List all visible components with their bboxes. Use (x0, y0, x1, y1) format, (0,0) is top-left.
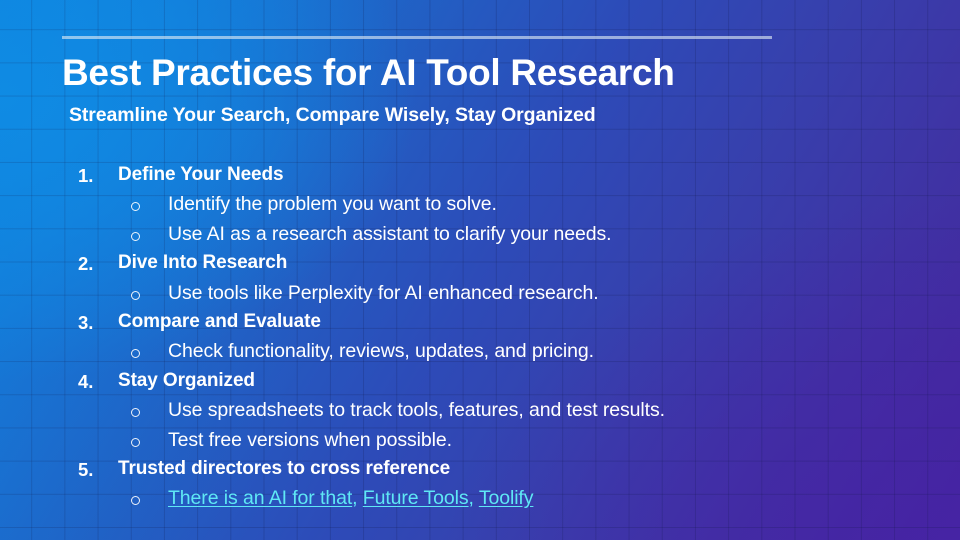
outline-subitem: Use AI as a research assistant to clarif… (0, 223, 960, 252)
link-separator: , (469, 487, 479, 509)
outline-subitem-label: Test free versions when possible. (168, 429, 452, 452)
slide-content: Best Practices for AI Tool Research Stre… (0, 0, 960, 540)
circle-bullet-icon (131, 291, 140, 300)
outline-item: 1. Define Your Needs (0, 164, 960, 193)
outline-subitem-label: Use spreadsheets to track tools, feature… (168, 399, 665, 422)
list-marker-number: 5. (78, 459, 112, 481)
outline-subitem: Use spreadsheets to track tools, feature… (0, 399, 960, 428)
circle-bullet-icon (131, 349, 140, 358)
directory-links-group: There is an AI for that, Future Tools, T… (168, 487, 533, 510)
link-toolify[interactable]: Toolify (479, 487, 534, 509)
list-marker-number: 1. (78, 165, 112, 187)
outline-item-label: Dive Into Research (118, 252, 287, 274)
outline-subitem: Identify the problem you want to solve. (0, 193, 960, 222)
outline-subitem-label: Identify the problem you want to solve. (168, 193, 497, 216)
outline-subitem-label: Check functionality, reviews, updates, a… (168, 340, 594, 363)
slide-canvas: Best Practices for AI Tool Research Stre… (0, 0, 960, 540)
circle-bullet-icon (131, 202, 140, 211)
outline-item-label: Stay Organized (118, 370, 255, 392)
link-there-is-an-ai-for-that[interactable]: There is an AI for that (168, 487, 352, 509)
outline-item-label: Trusted directores to cross reference (118, 458, 450, 480)
outline-subitem: Test free versions when possible. (0, 429, 960, 458)
outline-item: 4. Stay Organized (0, 370, 960, 399)
outline-subitem: Use tools like Perplexity for AI enhance… (0, 282, 960, 311)
slide-subtitle: Streamline Your Search, Compare Wisely, … (69, 106, 596, 126)
circle-bullet-icon (131, 408, 140, 417)
outline-subitem-label: Use tools like Perplexity for AI enhance… (168, 282, 599, 305)
list-marker-number: 3. (78, 312, 112, 334)
outline-subitem: Check functionality, reviews, updates, a… (0, 340, 960, 369)
link-separator: , (352, 487, 363, 509)
outline-item: 2. Dive Into Research (0, 252, 960, 281)
title-divider-rule (62, 36, 772, 39)
outline-subitem-links: There is an AI for that, Future Tools, T… (0, 487, 960, 516)
outline-item-label: Compare and Evaluate (118, 311, 321, 333)
outline-item-label: Define Your Needs (118, 164, 283, 186)
circle-bullet-icon (131, 438, 140, 447)
slide-title: Best Practices for AI Tool Research (62, 54, 675, 91)
outline-subitem-label: Use AI as a research assistant to clarif… (168, 223, 611, 246)
outline-list: 1. Define Your Needs Identify the proble… (0, 164, 960, 517)
circle-bullet-icon (131, 496, 140, 505)
outline-item: 5. Trusted directores to cross reference (0, 458, 960, 487)
list-marker-number: 2. (78, 253, 112, 275)
list-marker-number: 4. (78, 371, 112, 393)
link-future-tools[interactable]: Future Tools (363, 487, 469, 509)
circle-bullet-icon (131, 232, 140, 241)
outline-item: 3. Compare and Evaluate (0, 311, 960, 340)
